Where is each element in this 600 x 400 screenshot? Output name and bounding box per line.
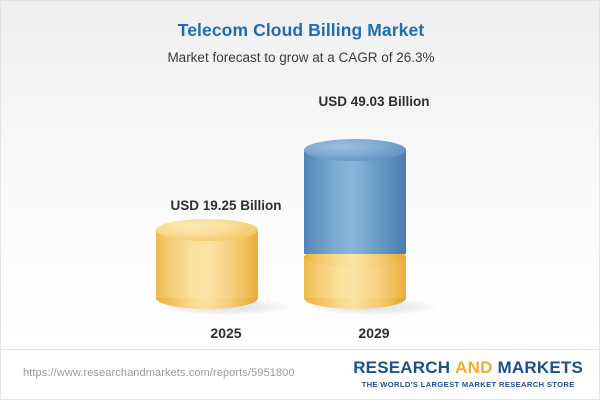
cylinder-top-cap-2029 bbox=[304, 139, 406, 161]
cylinder-top-cap-2025 bbox=[156, 219, 258, 241]
logo-word-markets: MARKETS bbox=[498, 358, 583, 377]
chart-plot-area: USD 19.25 Billion 2025 USD 49.03 Billion… bbox=[1, 1, 600, 349]
cylinder-segment-upper-2029 bbox=[304, 150, 406, 254]
logo-tagline: THE WORLD'S LARGEST MARKET RESEARCH STOR… bbox=[353, 379, 583, 390]
value-label-2029: USD 49.03 Billion bbox=[304, 93, 444, 111]
value-label-2025: USD 19.25 Billion bbox=[156, 197, 296, 215]
x-axis-label-2029: 2029 bbox=[304, 324, 444, 342]
bar-group-2029: USD 49.03 Billion 2029 bbox=[304, 93, 444, 342]
x-axis-label-2025: 2025 bbox=[156, 324, 296, 342]
footer: https://www.researchandmarkets.com/repor… bbox=[1, 350, 600, 399]
cylinder-2029[interactable] bbox=[304, 111, 444, 311]
bar-group-2025: USD 19.25 Billion 2025 bbox=[156, 197, 296, 342]
brand-logo[interactable]: RESEARCH AND MARKETS THE WORLD'S LARGEST… bbox=[353, 358, 583, 390]
logo-wordmark: RESEARCH AND MARKETS bbox=[353, 358, 583, 378]
cylinder-2025[interactable] bbox=[156, 215, 296, 311]
infographic-canvas: Telecom Cloud Billing Market Market fore… bbox=[0, 0, 600, 400]
source-url[interactable]: https://www.researchandmarkets.com/repor… bbox=[23, 367, 295, 379]
logo-word-research: RESEARCH bbox=[353, 358, 450, 377]
logo-word-and: AND bbox=[455, 358, 492, 377]
